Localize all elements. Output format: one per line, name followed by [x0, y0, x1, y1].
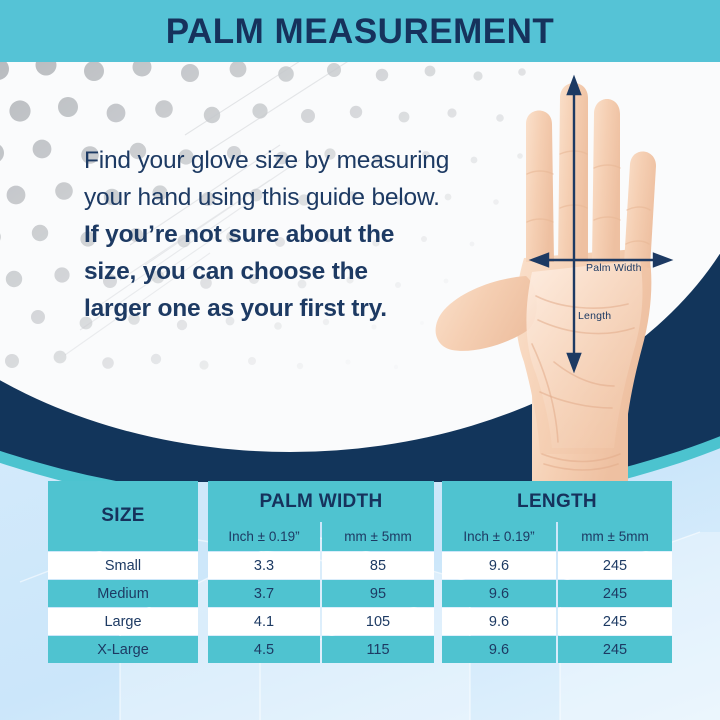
- table-cell-size-large: Large: [48, 608, 198, 635]
- table-row: 9.6 245: [442, 608, 672, 635]
- cell-width-mm-xlarge: 115: [322, 636, 434, 663]
- cell-width-inch-xlarge: 4.5: [208, 636, 320, 663]
- cell-width-inch-small: 3.3: [208, 552, 320, 579]
- cell-length-mm-xlarge: 245: [558, 636, 672, 663]
- palm-width-label: Palm Width: [586, 262, 642, 274]
- hand-shape: [436, 83, 656, 492]
- length-label: Length: [578, 310, 611, 322]
- table-group-length: LENGTH Inch ± 0.19” mm ± 5mm 9.6 245 9.6…: [442, 481, 672, 663]
- hand-illustration: [428, 62, 720, 492]
- cell-length-mm-large: 245: [558, 608, 672, 635]
- column-header-size: SIZE: [48, 481, 198, 551]
- table-cell-size-medium: Medium: [48, 580, 198, 607]
- cell-length-mm-small: 245: [558, 552, 672, 579]
- cell-width-mm-large: 105: [322, 608, 434, 635]
- table-row: 4.1 105: [208, 608, 434, 635]
- page-title: PALM MEASUREMENT: [166, 14, 554, 49]
- cell-length-inch-xlarge: 9.6: [442, 636, 556, 663]
- infographic-canvas: PALM MEASUREMENT Find your glove size by…: [0, 0, 720, 720]
- cell-width-mm-medium: 95: [322, 580, 434, 607]
- table-cell-size-xlarge: X-Large: [48, 636, 198, 663]
- subheader-length-mm: mm ± 5mm: [558, 522, 672, 551]
- table-group-size: SIZE Small Medium Large X-Large: [48, 481, 198, 663]
- column-header-palm-width: PALM WIDTH: [208, 481, 434, 522]
- cell-width-mm-small: 85: [322, 552, 434, 579]
- table-group-palm-width: PALM WIDTH Inch ± 0.19” mm ± 5mm 3.3 85 …: [208, 481, 434, 663]
- cell-width-inch-large: 4.1: [208, 608, 320, 635]
- table-row: 9.6 245: [442, 636, 672, 663]
- cell-length-mm-medium: 245: [558, 580, 672, 607]
- subheader-palm-width-inch: Inch ± 0.19”: [208, 522, 320, 551]
- subheader-length-inch: Inch ± 0.19”: [442, 522, 556, 551]
- table-row: 9.6 245: [442, 580, 672, 607]
- column-header-length: LENGTH: [442, 481, 672, 522]
- cell-length-inch-medium: 9.6: [442, 580, 556, 607]
- table-row: 3.3 85: [208, 552, 434, 579]
- table-row: 4.5 115: [208, 636, 434, 663]
- cell-length-inch-large: 9.6: [442, 608, 556, 635]
- cell-length-inch-small: 9.6: [442, 552, 556, 579]
- table-cell-size-small: Small: [48, 552, 198, 579]
- table-row: 9.6 245: [442, 552, 672, 579]
- subheader-palm-width-mm: mm ± 5mm: [322, 522, 434, 551]
- subheader-row-palm-width: Inch ± 0.19” mm ± 5mm: [208, 522, 434, 551]
- cell-width-inch-medium: 3.7: [208, 580, 320, 607]
- subheader-row-length: Inch ± 0.19” mm ± 5mm: [442, 522, 672, 551]
- header-band: PALM MEASUREMENT: [0, 0, 720, 62]
- table-row: 3.7 95: [208, 580, 434, 607]
